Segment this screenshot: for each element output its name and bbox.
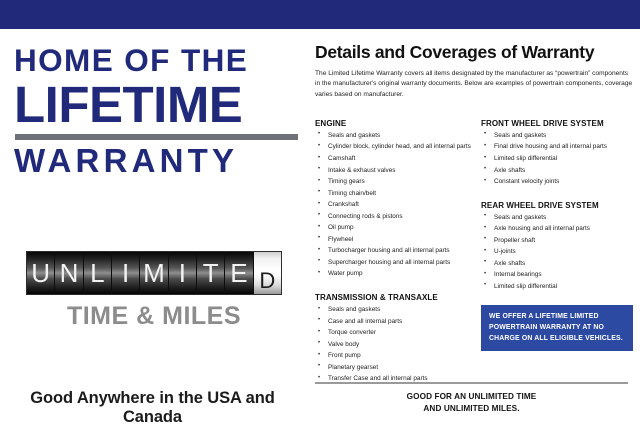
- list-item: Internal bearings: [481, 271, 635, 279]
- section-spacer: [481, 190, 635, 201]
- top-navy-bar: [0, 0, 640, 29]
- list-item: U-joints: [481, 248, 635, 256]
- odometer-digit: U: [31, 260, 50, 286]
- bottom-note: GOOD FOR AN UNLIMITED TIME AND UNLIMITED…: [315, 391, 628, 414]
- section-transmission: TRANSMISSION & TRANSAXLE Seals and gaske…: [315, 293, 481, 384]
- odometer-cell: N: [55, 252, 83, 294]
- odometer-cell: T: [197, 252, 225, 294]
- odometer-cell: I: [112, 252, 140, 294]
- section-title: TRANSMISSION & TRANSAXLE: [315, 293, 481, 302]
- bottom-note-line-2: AND UNLIMITED MILES.: [315, 403, 628, 415]
- odometer-digit: D: [259, 270, 275, 294]
- list-item: Limited slip differential: [481, 283, 635, 291]
- list-item: Cylinder block, cylinder head, and all i…: [315, 143, 481, 151]
- list-item: Limited slip differential: [481, 155, 635, 163]
- list-item: Seals and gaskets: [481, 132, 635, 140]
- odometer-cell: M: [140, 252, 168, 294]
- odometer-reel: U N L I M I T E D: [26, 251, 282, 295]
- left-branding-panel: HOME OF THE LIFETIME WARRANTY U N L I M …: [0, 29, 305, 426]
- odometer-graphic: U N L I M I T E D TIME & MILES: [26, 251, 282, 331]
- odometer-digit: T: [203, 260, 219, 286]
- list-item: Seals and gaskets: [315, 132, 481, 140]
- list-item: Seals and gaskets: [315, 306, 481, 314]
- section-title: FRONT WHEEL DRIVE SYSTEM: [481, 119, 635, 128]
- list-item: Timing gears: [315, 178, 481, 186]
- odometer-digit: N: [60, 260, 79, 286]
- section-spacer: [315, 282, 481, 293]
- odometer-cell: E: [225, 252, 253, 294]
- list-item: Intake & exhaust valves: [315, 167, 481, 175]
- list-item: Oil pump: [315, 224, 481, 232]
- list-item: Supercharger housing and all internal pa…: [315, 259, 481, 267]
- hero-line-warranty: WARRANTY: [14, 144, 299, 177]
- list-item: Crankshaft: [315, 201, 481, 209]
- hero-line-lifetime: LIFETIME: [14, 79, 299, 131]
- coverage-column-right: FRONT WHEEL DRIVE SYSTEM Seals and gaske…: [481, 119, 635, 387]
- list-item: Planetary gearset: [315, 364, 481, 372]
- list-item: Seals and gaskets: [481, 214, 635, 222]
- odometer-digit: I: [122, 260, 129, 286]
- list-item: Timing chain/belt: [315, 190, 481, 198]
- promo-callout-box: WE OFFER A LIFETIME LIMITED POWERTRAIN W…: [481, 305, 633, 351]
- odometer-digit: I: [179, 260, 186, 286]
- list-item: Camshaft: [315, 155, 481, 163]
- odometer-cell: L: [84, 252, 112, 294]
- section-title: REAR WHEEL DRIVE SYSTEM: [481, 201, 635, 210]
- coverage-list: Seals and gaskets Case and all internal …: [315, 306, 481, 384]
- odometer-digit: M: [143, 260, 165, 286]
- odometer-caption: TIME & MILES: [26, 302, 282, 331]
- list-item: Axle housing and all internal parts: [481, 225, 635, 233]
- coverage-list: Seals and gaskets Cylinder block, cylind…: [315, 132, 481, 279]
- details-panel: Details and Coverages of Warranty The Li…: [305, 29, 640, 426]
- section-rear-wheel-drive: REAR WHEEL DRIVE SYSTEM Seals and gasket…: [481, 201, 635, 292]
- odometer-cell: I: [169, 252, 197, 294]
- coverage-column-left: ENGINE Seals and gaskets Cylinder block,…: [315, 119, 481, 387]
- list-item: Final drive housing and all internal par…: [481, 143, 635, 151]
- coverage-list: Seals and gaskets Final drive housing an…: [481, 132, 635, 187]
- list-item: Axle shafts: [481, 260, 635, 268]
- odometer-cell: U: [27, 252, 55, 294]
- section-front-wheel-drive: FRONT WHEEL DRIVE SYSTEM Seals and gaske…: [481, 119, 635, 187]
- list-item: Axle shafts: [481, 167, 635, 175]
- coverage-list: Seals and gaskets Axle housing and all i…: [481, 214, 635, 292]
- coverage-columns: ENGINE Seals and gaskets Cylinder block,…: [315, 119, 635, 387]
- bottom-divider-rule: [315, 382, 628, 384]
- section-engine: ENGINE Seals and gaskets Cylinder block,…: [315, 119, 481, 279]
- odometer-digit: E: [230, 260, 247, 286]
- list-item: Valve body: [315, 341, 481, 349]
- hero-divider-rule: [15, 134, 298, 140]
- page-title: Details and Coverages of Warranty: [315, 43, 628, 62]
- warranty-flyer: HOME OF THE LIFETIME WARRANTY U N L I M …: [0, 0, 640, 426]
- odometer-digit: L: [90, 260, 104, 286]
- list-item: Constant velocity joints: [481, 178, 635, 186]
- list-item: Torque converter: [315, 329, 481, 337]
- list-item: Water pump: [315, 270, 481, 278]
- hero-lockup: HOME OF THE LIFETIME WARRANTY: [14, 45, 299, 177]
- section-title: ENGINE: [315, 119, 481, 128]
- hero-line-home-of-the: HOME OF THE: [14, 45, 299, 77]
- list-item: Case and all internal parts: [315, 318, 481, 326]
- list-item: Front pump: [315, 352, 481, 360]
- coverage-region-note: Good Anywhere in the USA and Canada: [0, 389, 305, 426]
- bottom-note-line-1: GOOD FOR AN UNLIMITED TIME: [315, 391, 628, 403]
- list-item: Turbocharger housing and all internal pa…: [315, 247, 481, 255]
- odometer-cell-highlight: D: [254, 252, 281, 294]
- list-item: Flywheel: [315, 236, 481, 244]
- list-item: Connecting rods & pistons: [315, 213, 481, 221]
- intro-paragraph: The Limited Lifetime Warranty covers all…: [315, 69, 633, 100]
- list-item: Propeller shaft: [481, 237, 635, 245]
